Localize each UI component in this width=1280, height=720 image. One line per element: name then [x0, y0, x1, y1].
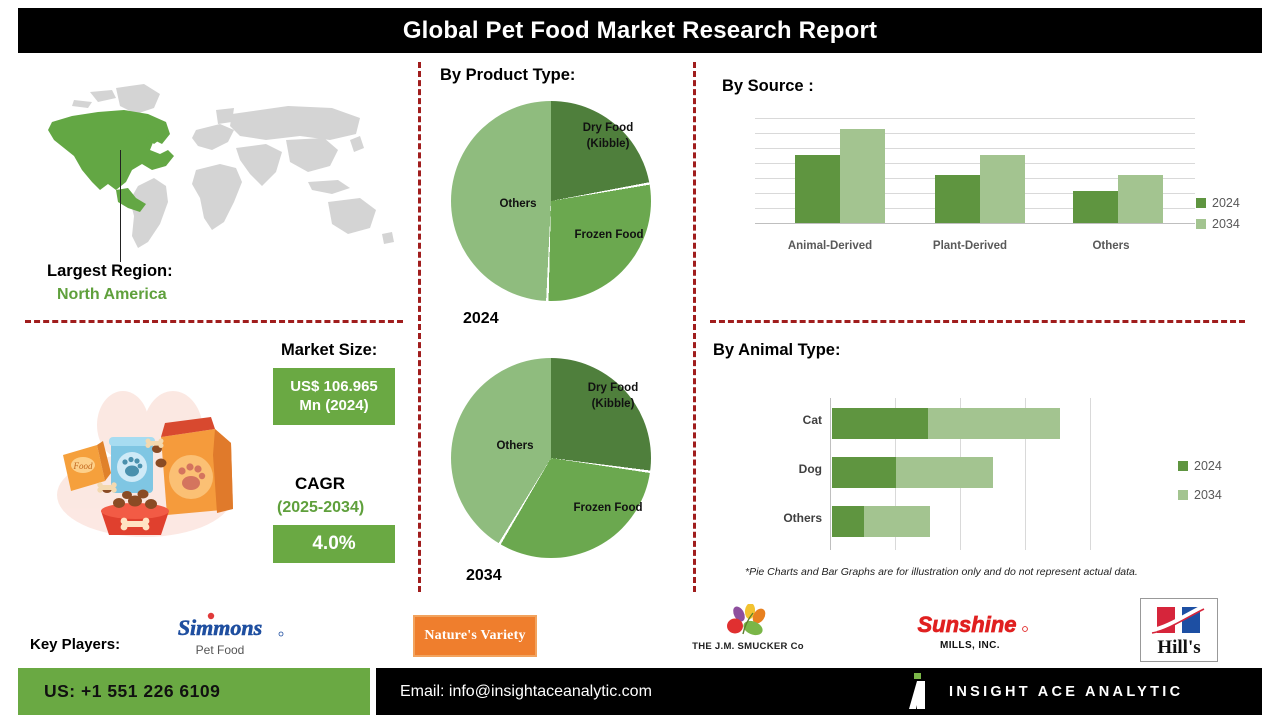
logo-hills-text: Hill's	[1157, 638, 1200, 657]
brand-logo: INSIGHT ACE ANALYTIC	[905, 668, 1183, 715]
axis-line	[755, 223, 1195, 224]
divider-vertical-left	[418, 62, 421, 592]
source-legend-2024: 2024	[1196, 196, 1240, 210]
pie-2034-label-frozen: Frozen Food	[562, 501, 654, 517]
largest-region-value: North America	[57, 286, 167, 304]
animal-legend-2024: 2024	[1178, 459, 1222, 473]
gridline	[1090, 398, 1091, 550]
legend-label-2034: 2034	[1194, 488, 1222, 502]
logo-sunshine-mills-text: MILLS, INC.	[940, 640, 1000, 651]
gridline	[755, 148, 1195, 149]
source-legend-2034: 2034	[1196, 217, 1240, 231]
logo-jm-smucker: THE J.M. SMUCKER Co	[668, 600, 828, 656]
bar-2034-animal-derived	[840, 129, 885, 223]
pet-food-illustration: Food	[45, 385, 260, 545]
phone-number[interactable]: US: +1 551 226 6109	[44, 681, 220, 702]
legend-swatch-2034	[1196, 219, 1206, 229]
logo-natures-variety-text: Nature's Variety	[424, 628, 525, 644]
logo-natures-variety: Nature's Variety	[413, 615, 537, 657]
logo-simmons-pet-food: Simmons Pet Food	[150, 608, 290, 660]
source-category-plant-derived: Plant-Derived	[905, 240, 1035, 252]
source-chart-title: By Source :	[722, 77, 814, 96]
bar-2034-plant-derived	[980, 155, 1025, 223]
market-size-value-box: US$ 106.965 Mn (2024)	[273, 368, 395, 425]
divider-horizontal-right	[710, 320, 1245, 323]
svg-text:Food: Food	[73, 461, 93, 471]
insight-ace-a-icon	[905, 673, 935, 711]
bar-2024-cat	[832, 408, 928, 439]
world-map	[20, 78, 410, 258]
bar-2024-others	[1073, 191, 1118, 223]
largest-region-label: Largest Region:	[47, 262, 173, 281]
animal-category-others: Others	[742, 511, 822, 525]
cagr-value-box: 4.0%	[273, 525, 395, 563]
page-header: Global Pet Food Market Research Report	[18, 8, 1262, 53]
axis-line-y	[830, 398, 831, 550]
logo-jm-smucker-text: THE J.M. SMUCKER Co	[692, 641, 804, 652]
legend-swatch-2024	[1196, 198, 1206, 208]
pie-2034-label-others: Others	[480, 439, 550, 455]
animal-chart-title: By Animal Type:	[713, 341, 840, 360]
divider-vertical-right	[693, 62, 696, 592]
animal-chart	[830, 398, 1120, 550]
pie-2024-label-others: Others	[483, 197, 553, 213]
legend-label-2024: 2024	[1194, 459, 1222, 473]
animal-category-cat: Cat	[742, 413, 822, 427]
logo-hills: Hill's	[1140, 598, 1218, 662]
bar-2024-others-animal	[832, 506, 864, 537]
key-players-label: Key Players:	[30, 636, 120, 653]
pie-2034-year: 2034	[466, 567, 502, 585]
legend-swatch-2034	[1178, 490, 1188, 500]
animal-category-dog: Dog	[742, 462, 822, 476]
gridline	[755, 133, 1195, 134]
divider-horizontal-left	[25, 320, 403, 323]
logo-simmons-tagline: Pet Food	[196, 643, 245, 657]
bar-2034-others	[1118, 175, 1163, 223]
market-size-line2: Mn (2024)	[290, 397, 378, 416]
email-address[interactable]: Email: info@insightaceanalytic.com	[400, 683, 652, 701]
svg-text:Sunshine: Sunshine	[917, 612, 1016, 637]
map-leader-line	[120, 150, 121, 262]
legend-label-2034: 2034	[1212, 217, 1240, 231]
source-category-animal-derived: Animal-Derived	[760, 240, 900, 252]
phone-bar[interactable]: US: +1 551 226 6109	[18, 668, 370, 715]
legend-swatch-2024	[1178, 461, 1188, 471]
market-size-line1: US$ 106.965	[290, 378, 378, 397]
brand-name: INSIGHT ACE ANALYTIC	[949, 684, 1183, 700]
pie-2034-label-dry: Dry Food (Kibble)	[575, 381, 651, 412]
pie-2024-label-frozen: Frozen Food	[563, 228, 655, 244]
chart-footnote: *Pie Charts and Bar Graphs are for illus…	[745, 566, 1138, 578]
animal-legend-2034: 2034	[1178, 488, 1222, 502]
bar-2034-others-animal	[864, 506, 930, 537]
bar-2024-animal-derived	[795, 155, 840, 223]
product-type-title: By Product Type:	[440, 66, 575, 85]
source-category-others: Others	[1055, 240, 1167, 252]
infographic-page: Global Pet Food Market Research Report	[0, 0, 1280, 720]
gridline	[755, 118, 1195, 119]
cagr-years: (2025-2034)	[277, 499, 364, 517]
pie-2024-label-dry: Dry Food (Kibble)	[570, 121, 646, 152]
page-title: Global Pet Food Market Research Report	[403, 17, 877, 45]
svg-text:Simmons: Simmons	[178, 615, 262, 640]
bar-2024-dog	[832, 457, 896, 488]
source-chart	[755, 118, 1205, 228]
pie-2024-year: 2024	[463, 310, 499, 328]
bar-2034-cat	[928, 408, 1060, 439]
legend-label-2024: 2024	[1212, 196, 1240, 210]
bar-2024-plant-derived	[935, 175, 980, 223]
market-size-label: Market Size:	[281, 341, 377, 360]
logo-sunshine-mills: Sunshine MILLS, INC.	[900, 604, 1040, 656]
bar-2034-dog	[896, 457, 993, 488]
cagr-label: CAGR	[295, 474, 345, 494]
